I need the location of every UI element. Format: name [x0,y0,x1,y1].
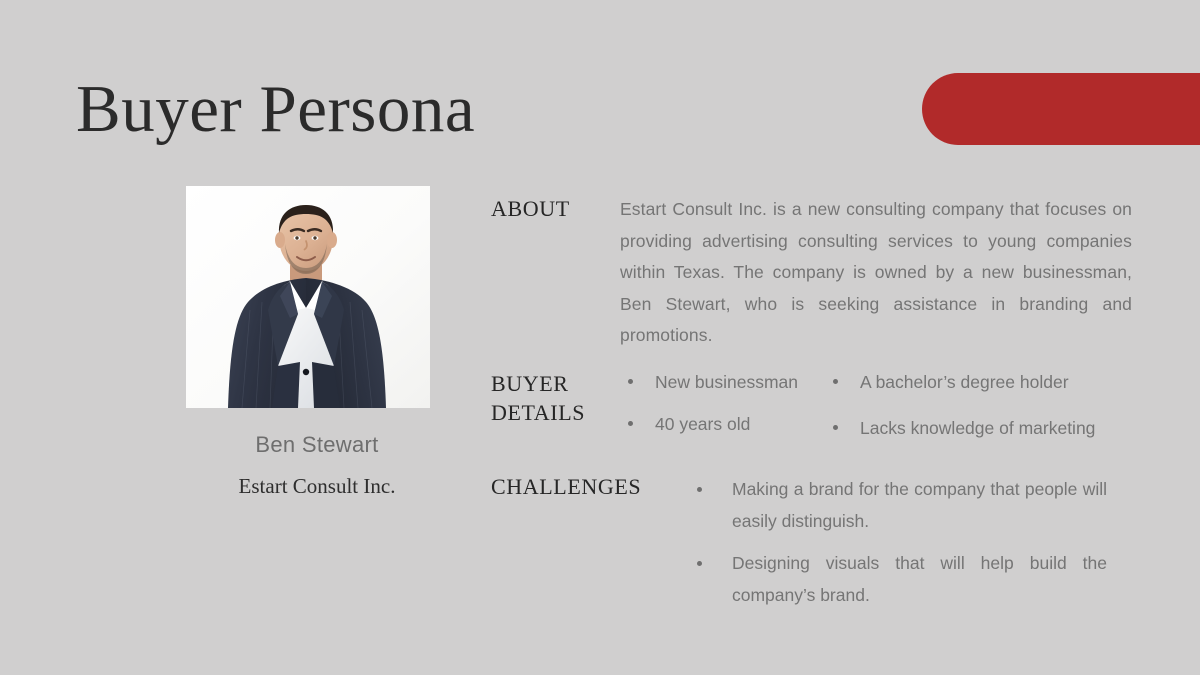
list-item: Lacks knowledge of marketing [833,412,1148,454]
bullet-dot-icon [697,561,702,566]
slide-canvas: Buyer Persona [0,0,1200,675]
section-label-buyer-line1: BUYER [491,369,611,398]
list-item: A bachelor’s degree holder [833,370,1148,412]
bullet-dot-icon [833,425,838,430]
bullet-dot-icon [628,421,633,426]
list-item-label: Making a brand for the company that peop… [732,474,1107,537]
list-item-label: A bachelor’s degree holder [860,370,1148,394]
profile-photo [186,186,430,408]
headshot-illustration [186,186,430,408]
list-item: Making a brand for the company that peop… [697,474,1107,537]
list-item-label: New businessman [655,370,833,394]
list-item: Designing visuals that will help build t… [697,548,1107,611]
challenges-list: Making a brand for the company that peop… [697,474,1107,622]
section-label-buyer-details: BUYER DETAILS [491,369,611,427]
accent-pill-decoration [922,73,1200,145]
section-label-buyer-line2: DETAILS [491,398,611,427]
bullet-dot-icon [833,379,838,384]
section-label-challenges: CHALLENGES [491,472,641,501]
list-item-label: Lacks knowledge of marketing [860,416,1148,440]
profile-name: Ben Stewart [186,430,448,460]
list-item: New businessman [628,370,833,412]
buyer-details-list: New businessman A bachelor’s degree hold… [628,370,1148,454]
list-item: 40 years old [628,412,833,454]
page-title: Buyer Persona [76,70,475,148]
profile-company: Estart Consult Inc. [186,472,448,500]
bullet-dot-icon [697,487,702,492]
list-item-label: 40 years old [655,412,833,436]
list-item-label: Designing visuals that will help build t… [732,548,1107,611]
about-paragraph: Estart Consult Inc. is a new consulting … [620,194,1132,352]
bullet-dot-icon [628,379,633,384]
section-label-about: ABOUT [491,194,570,223]
